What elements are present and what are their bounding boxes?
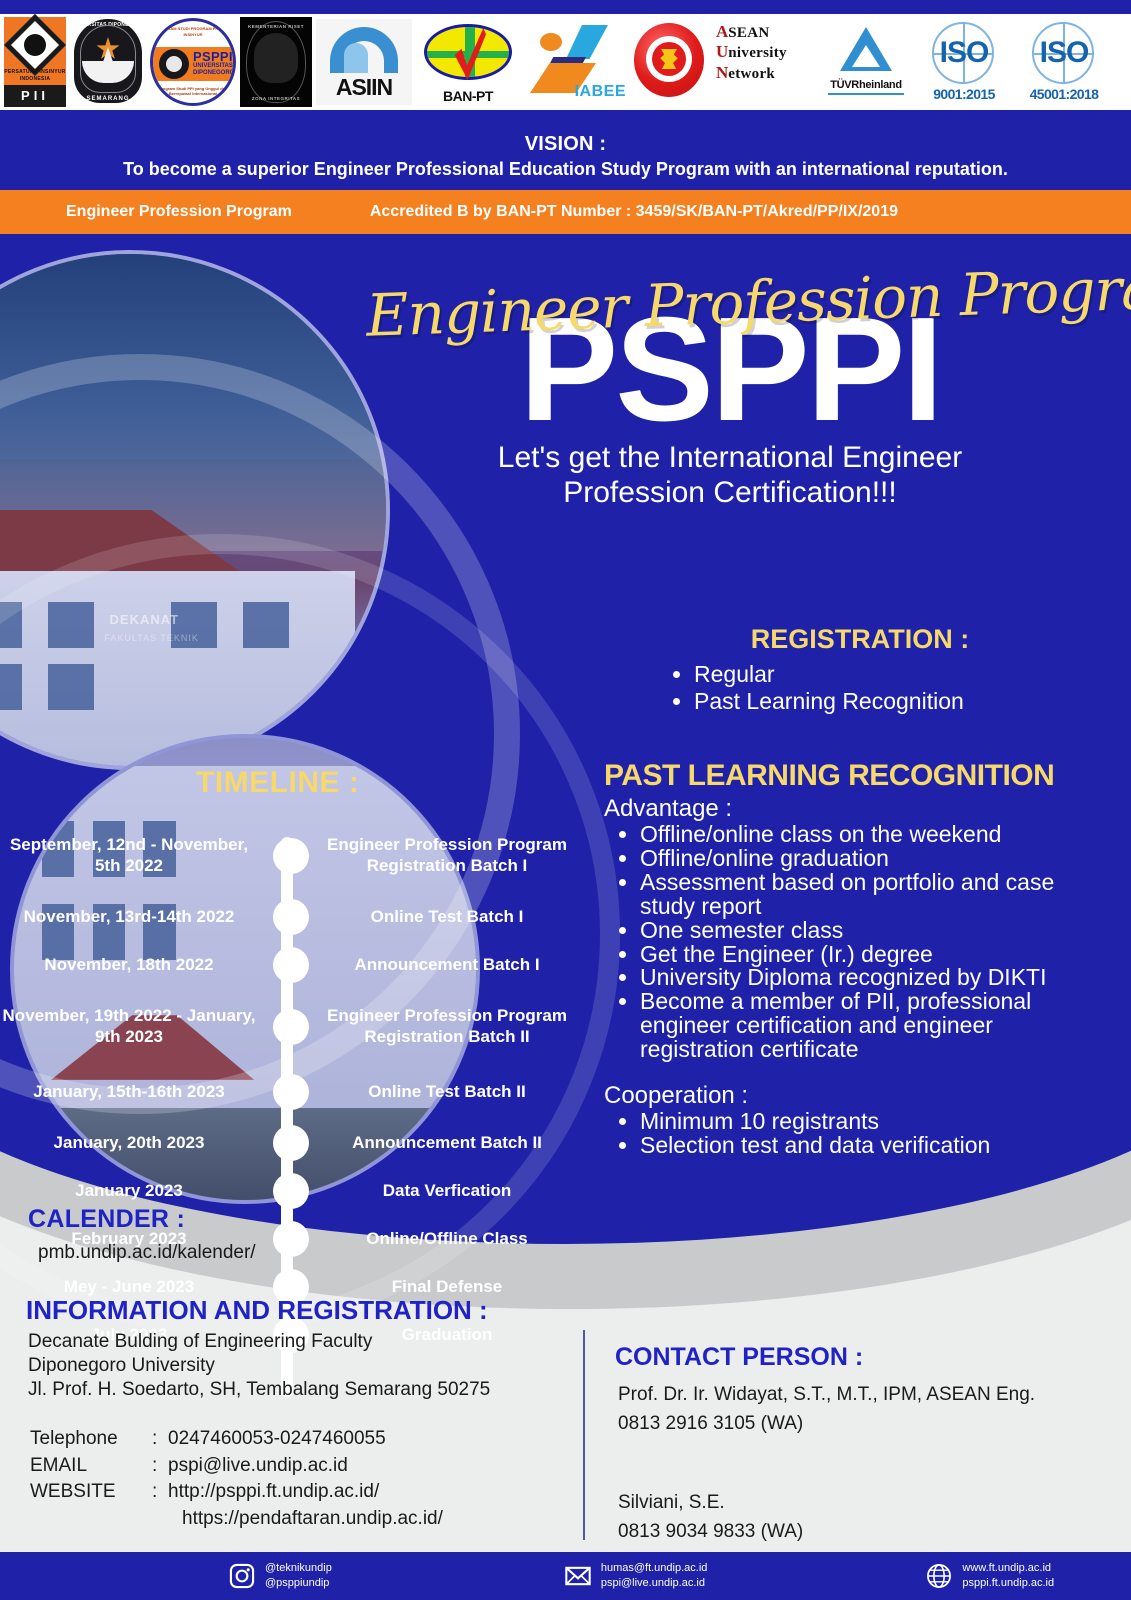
aun-line1: SEAN [728, 25, 769, 42]
list-item: Offline/online class on the weekend [640, 823, 1104, 847]
iso-45001-word: ISO [1016, 36, 1112, 70]
accreditation-banner: Engineer Profession Program Accredited B… [0, 190, 1131, 234]
iabee-logo: IABEE [524, 16, 626, 108]
psppi-logo: PROGRAM STUDI PROGRAM PROFESI INSINYUR P… [150, 16, 236, 108]
table-row: https://pendaftaran.undip.ac.id/ [30, 1507, 443, 1532]
plr-heading: PAST LEARNING RECOGNITION [604, 759, 1104, 793]
colon-3: : [152, 1480, 166, 1505]
pii-logo-label: PII [4, 85, 66, 107]
information-heading: INFORMATION AND REGISTRATION : [26, 1295, 488, 1326]
aun-line1-cap: A [716, 22, 728, 42]
envelope-icon [564, 1562, 592, 1590]
website-value-2[interactable]: https://pendaftaran.undip.ac.id/ [168, 1507, 443, 1532]
undip-logo-bottom-text: SEMARANG [70, 96, 146, 102]
past-learning-recognition-section: PAST LEARNING RECOGNITION Advantage : Of… [604, 759, 1104, 1158]
contact-person-2-phone[interactable]: 0813 9034 9833 (WA) [618, 1517, 803, 1546]
address-line-3: Jl. Prof. H. Soedarto, SH, Tembalang Sem… [28, 1378, 490, 1402]
psppi-logo-top-text: PROGRAM STUDI PROGRAM PROFESI INSINYUR [153, 26, 233, 37]
timeline-event: Online/Offline Class [312, 1229, 574, 1250]
hero-title-block: Engineer Profession Program PSPPI Let's … [360, 274, 1100, 510]
footer-email-1: humas@ft.undip.ac.id [601, 1561, 708, 1576]
timeline-heading: TIMELINE : [196, 766, 359, 800]
list-item: Assessment based on portfolio and case s… [640, 871, 1104, 919]
timeline-dot [273, 899, 309, 935]
timeline-date: November, 13rd-14th 2022 [0, 907, 270, 928]
tuv-logo-text: TÜVRheinland [820, 79, 912, 91]
iso-9001-word: ISO [916, 36, 1012, 70]
instagram-handle-2: @psppiundip [265, 1576, 332, 1591]
website-value-1[interactable]: http://psppi.ft.undip.ac.id/ [168, 1480, 443, 1505]
plr-cooperation-label: Cooperation : [604, 1082, 1104, 1110]
plr-cooperation-list: Minimum 10 registrants Selection test an… [640, 1110, 1104, 1158]
footer-bar: @teknikundip @psppiundip humas@ft.undip.… [0, 1552, 1131, 1600]
list-item: University Diploma recognized by DIKTI [640, 966, 1104, 990]
accreditation-status: Accredited B by BAN-PT Number : 3459/SK/… [370, 203, 898, 221]
timeline-event: Engineer Profession Program Registration… [312, 1006, 574, 1047]
ban-pt-logo-text: BAN-PT [416, 88, 520, 104]
timeline-dot [273, 1221, 309, 1257]
timeline-dot [273, 947, 309, 983]
iso-9001-number: 9001:2015 [916, 86, 1012, 102]
footer-email[interactable]: humas@ft.undip.ac.id pspi@live.undip.ac.… [564, 1561, 708, 1591]
aun-line2: niversity [728, 45, 787, 62]
instagram-handle-1: @teknikundip [265, 1561, 332, 1576]
poster-root: PERSATUAN INSINYUR INDONESIA PII UNIVERS… [0, 0, 1131, 1600]
timeline-dot [273, 1125, 309, 1161]
aun-line3: etwork [728, 66, 775, 83]
accreditation-logo-bar: PERSATUAN INSINYUR INDONESIA PII UNIVERS… [0, 0, 1131, 122]
asiin-logo-text: ASIIN [316, 74, 412, 101]
timeline-date: September, 12nd - November, 5th 2022 [0, 835, 270, 876]
asean-university-network-logo: ASEAN University Network [712, 16, 816, 108]
timeline-row: January, 15th-16th 2023 Online Test Batc… [0, 1065, 580, 1119]
psppi-logo-bottom-text: Program Studi PPI yang Unggul dan Berrep… [153, 86, 233, 97]
footer-website[interactable]: www.ft.undip.ac.id psppi.ft.undip.ac.id [925, 1561, 1054, 1591]
list-item: Minimum 10 registrants [640, 1110, 1104, 1134]
timeline-row: November, 13rd-14th 2022 Online Test Bat… [0, 893, 580, 941]
contact-person-2-name: Silviani, S.E. [618, 1488, 803, 1517]
contact-person-1: Prof. Dr. Ir. Widayat, S.T., M.T., IPM, … [618, 1380, 1035, 1439]
plr-advantage-label: Advantage : [604, 795, 1104, 823]
iso-45001-number: 45001:2018 [1016, 86, 1112, 102]
timeline-row: September, 12nd - November, 5th 2022 Eng… [0, 819, 580, 893]
timeline-list: September, 12nd - November, 5th 2022 Eng… [0, 819, 580, 1359]
footer-instagram[interactable]: @teknikundip @psppiundip [228, 1561, 332, 1591]
psppi-logo-sub: UNIVERSITAS DIPONEGORO [193, 63, 234, 77]
registration-section: REGISTRATION : Regular Past Learning Rec… [620, 624, 1100, 715]
information-contact-table: Telephone : 0247460053-0247460055 EMAIL … [28, 1425, 445, 1534]
globe-icon [925, 1562, 953, 1590]
address-line-1: Decanate Bulding of Engineering Faculty [28, 1330, 490, 1354]
timeline-event: Data Verfication [312, 1181, 574, 1202]
information-address: Decanate Bulding of Engineering Faculty … [28, 1330, 490, 1402]
list-item: Get the Engineer (Ir.) degree [640, 943, 1104, 967]
list-item: Selection test and data verification [640, 1134, 1104, 1158]
registration-heading: REGISTRATION : [620, 624, 1100, 655]
timeline-date: January, 15th-16th 2023 [0, 1082, 270, 1103]
colon-2: : [152, 1454, 166, 1479]
vision-banner: VISION : To become a superior Engineer P… [0, 122, 1131, 190]
email-label: EMAIL [30, 1454, 150, 1479]
timeline-dot [273, 1173, 309, 1209]
kemenristek-bottom-text: ZONA INTEGRITAS [240, 96, 312, 101]
plr-advantages-list: Offline/online class on the weekend Offl… [640, 823, 1104, 1062]
registration-list: Regular Past Learning Recognition [694, 661, 1100, 715]
list-item: Become a member of PII, professional eng… [640, 990, 1104, 1062]
aun-line3-cap: N [716, 63, 728, 83]
footer-email-2: pspi@live.undip.ac.id [601, 1576, 708, 1591]
timeline-event: Announcement Batch I [312, 955, 574, 976]
pii-logo: PERSATUAN INSINYUR INDONESIA PII [4, 16, 66, 108]
aun-line2-cap: U [716, 42, 728, 62]
website-label: WEBSITE [30, 1480, 150, 1505]
timeline-date: January 2023 [0, 1181, 270, 1202]
ban-pt-logo: BAN-PT [416, 16, 520, 108]
iso-45001-logo: ISO 45001:2018 [1016, 16, 1112, 108]
contact-person-1-phone[interactable]: 0813 2916 3105 (WA) [618, 1409, 1035, 1438]
timeline-row: January, 20th 2023 Announcement Batch II [0, 1119, 580, 1167]
footer-website-2: psppi.ft.undip.ac.id [962, 1576, 1054, 1591]
program-name: Engineer Profession Program [66, 203, 292, 221]
psppi-logo-name: PSPPI [193, 49, 233, 64]
timeline-dot [273, 838, 309, 874]
timeline-row: November, 19th 2022 - January, 9th 2023 … [0, 989, 580, 1065]
asean-logo [630, 16, 708, 108]
timeline-row: November, 18th 2022 Announcement Batch I [0, 941, 580, 989]
kemenristek-top-text: KEMENTERIAN RISET [240, 24, 312, 29]
list-item: Regular [694, 661, 1100, 688]
list-item: Past Learning Recognition [694, 688, 1100, 715]
timeline-event: Online Test Batch I [312, 907, 574, 928]
table-row: Telephone : 0247460053-0247460055 [30, 1427, 443, 1452]
pii-logo-caption: PERSATUAN INSINYUR INDONESIA [4, 69, 66, 83]
kemenristek-logo: KEMENTERIAN RISET ZONA INTEGRITAS [240, 16, 312, 108]
vertical-divider [583, 1330, 585, 1540]
timeline-dot [273, 1074, 309, 1110]
vision-heading: VISION : [0, 133, 1131, 156]
contact-person-heading: CONTACT PERSON : [615, 1343, 863, 1372]
contact-person-2: Silviani, S.E. 0813 9034 9833 (WA) [618, 1488, 803, 1547]
timeline-dot [273, 1009, 309, 1045]
undip-logo: UNIVERSITAS DIPONEGORO SEMARANG [70, 16, 146, 108]
logo-strip: PERSATUAN INSINYUR INDONESIA PII UNIVERS… [0, 14, 1131, 110]
calendar-heading: CALENDER : [28, 1205, 185, 1234]
timeline-event: Engineer Profession Program Registration… [312, 835, 574, 876]
tuv-rheinland-logo: TÜVRheinland [820, 16, 912, 108]
instagram-icon [228, 1562, 256, 1590]
list-item: Offline/online graduation [640, 847, 1104, 871]
asiin-logo: ASIIN [316, 16, 412, 108]
list-item: One semester class [640, 919, 1104, 943]
iso-9001-logo: ISO 9001:2015 [916, 16, 1012, 108]
email-value[interactable]: pspi@live.undip.ac.id [168, 1454, 443, 1479]
timeline-event: Announcement Batch II [312, 1133, 574, 1154]
table-row: EMAIL : pspi@live.undip.ac.id [30, 1454, 443, 1479]
table-row: WEBSITE : http://psppi.ft.undip.ac.id/ [30, 1480, 443, 1505]
calendar-url[interactable]: pmb.undip.ac.id/kalender/ [38, 1242, 256, 1264]
pii-dot-shape [24, 34, 46, 56]
timeline-event: Online Test Batch II [312, 1082, 574, 1103]
colon-1: : [152, 1427, 166, 1452]
hero-tagline-line1: Let's get the International Engineer [360, 441, 1100, 476]
timeline-date: November, 18th 2022 [0, 955, 270, 976]
telephone-value: 0247460053-0247460055 [168, 1427, 443, 1452]
timeline-date: January, 20th 2023 [0, 1133, 270, 1154]
contact-person-1-name: Prof. Dr. Ir. Widayat, S.T., M.T., IPM, … [618, 1380, 1035, 1409]
telephone-label: Telephone [30, 1427, 150, 1452]
vision-statement: To become a superior Engineer Profession… [0, 159, 1131, 180]
address-line-2: Diponegoro University [28, 1354, 490, 1378]
footer-website-1: www.ft.undip.ac.id [962, 1561, 1054, 1576]
iabee-logo-text: IABEE [575, 83, 626, 101]
hero-tagline-line2: Profession Certification!!! [360, 476, 1100, 511]
timeline-date: November, 19th 2022 - January, 9th 2023 [0, 1006, 270, 1047]
